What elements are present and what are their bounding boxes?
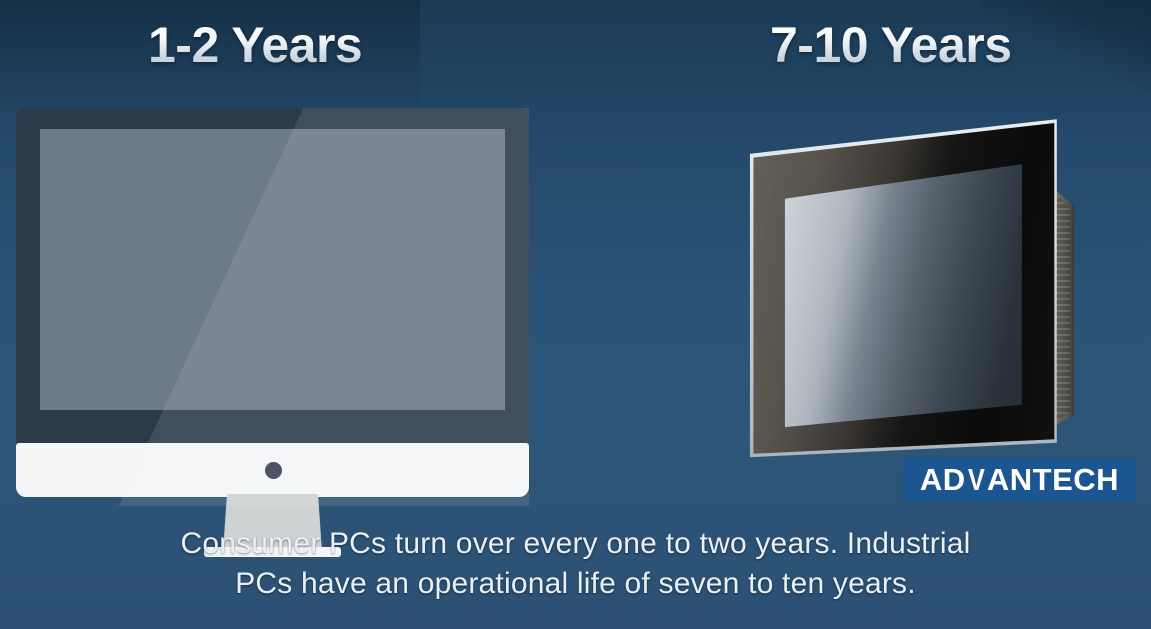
advantech-logo-v-glyph: V bbox=[968, 464, 985, 495]
consumer-desktop-monitor-illustration bbox=[16, 108, 529, 506]
caption-block: Consumer PCs turn over every one to two … bbox=[0, 524, 1151, 604]
advantech-logo-text: ADVANTECH bbox=[920, 464, 1119, 495]
advantech-logo-text-part1: AD bbox=[920, 462, 966, 497]
advantech-logo: ADVANTECH bbox=[903, 458, 1136, 501]
caption-line-1: Consumer PCs turn over every one to two … bbox=[0, 524, 1151, 564]
heading-consumer-lifespan: 1-2 Years bbox=[148, 20, 362, 70]
industrial-panel-pc-illustration bbox=[740, 112, 1070, 462]
monitor-screen bbox=[40, 129, 505, 410]
slide-canvas: 1-2 Years 7-10 Years ADVANTECH Consumer … bbox=[0, 0, 1151, 629]
advantech-logo-text-part2: ANTECH bbox=[987, 462, 1119, 497]
monitor-power-led-icon bbox=[265, 462, 282, 479]
caption-line-2: PCs have an operational life of seven to… bbox=[0, 564, 1151, 604]
heading-industrial-lifespan: 7-10 Years bbox=[770, 20, 1012, 70]
